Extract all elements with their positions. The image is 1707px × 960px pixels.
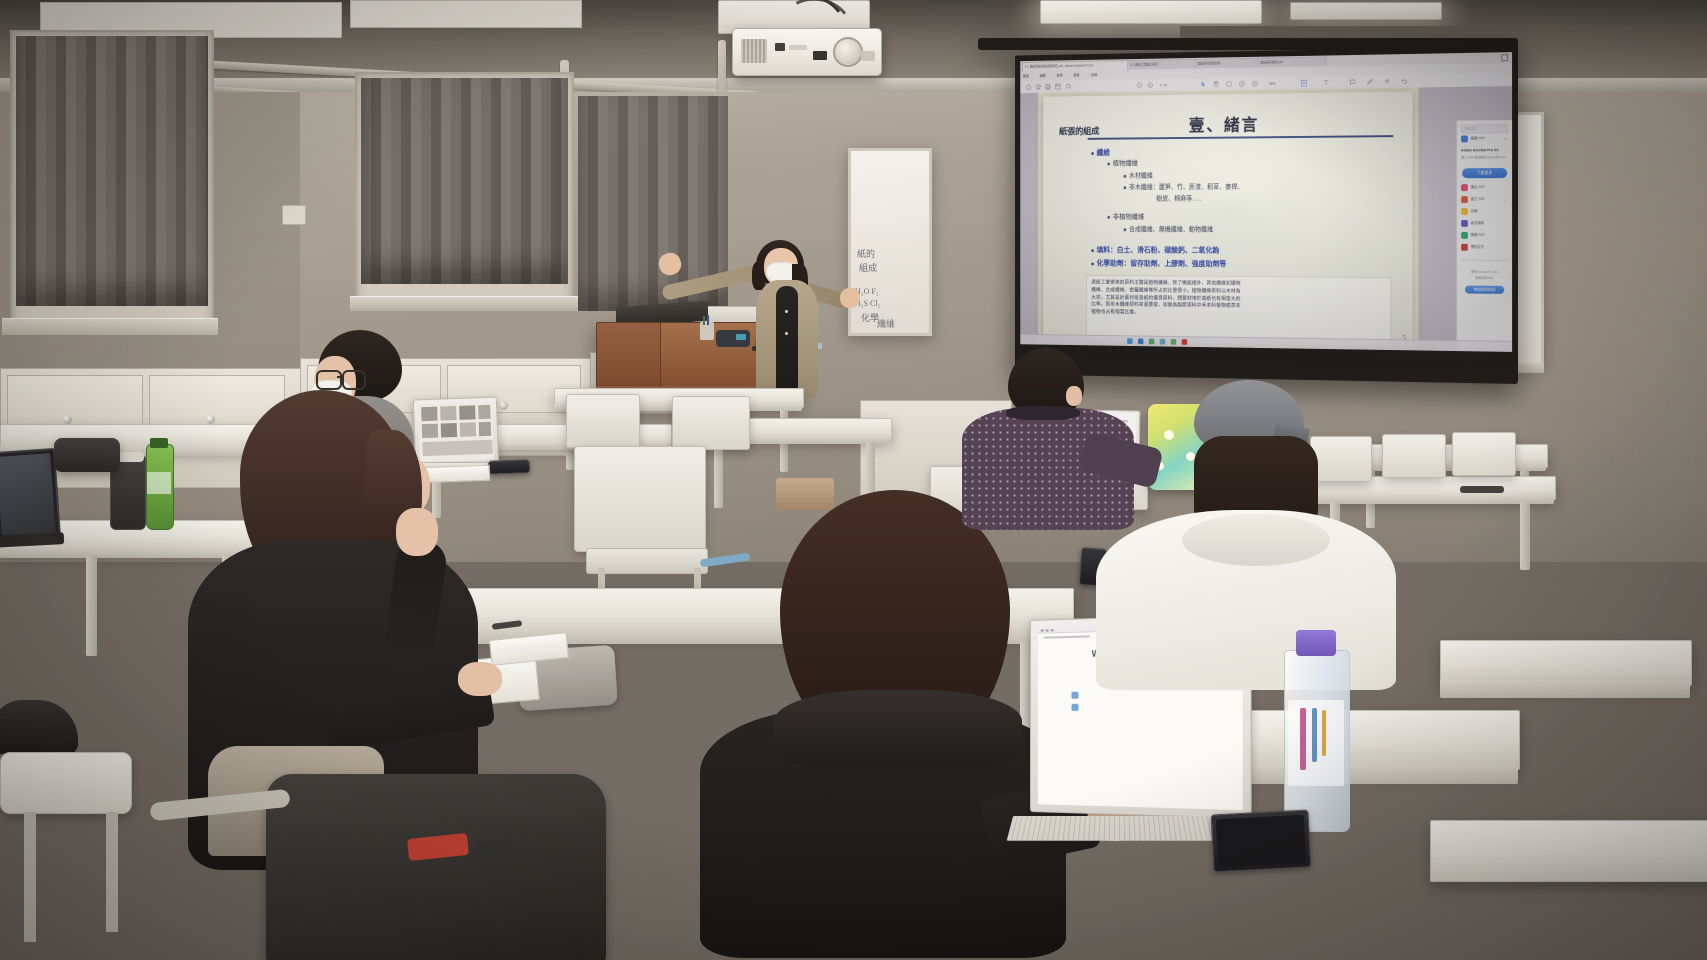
ceiling-light [1290, 2, 1442, 20]
folding-chair[interactable] [0, 752, 132, 814]
doc-meta-line [1044, 635, 1090, 638]
student-hand [396, 508, 438, 556]
zoom-out-icon[interactable] [1136, 82, 1142, 89]
tool-row-edit-pdf[interactable]: 編輯 PDF [1461, 134, 1508, 143]
acrobat-footer-line-2: 解鎖全部 PDF [1461, 276, 1508, 281]
select-tool-icon[interactable] [1200, 81, 1206, 88]
combine-files-icon [1461, 220, 1468, 227]
tool-search-input[interactable]: 搜尋工具 [1461, 124, 1508, 133]
student-hand [458, 662, 502, 696]
doc-icon [1071, 704, 1078, 711]
menu-sign[interactable]: 簽署 [1073, 72, 1079, 77]
start-trial-button[interactable]: 開始免費試用版 [1465, 286, 1504, 294]
menu-help[interactable]: 說明 [1091, 72, 1097, 77]
chair-leg [106, 812, 118, 932]
classroom-desk [1430, 820, 1707, 882]
tool-row-create-pdf[interactable]: 建立 PDF [1461, 195, 1508, 204]
slide-page: 壹、緒言 紙張的組成 纖維 植物纖維 木材纖維 非木纖維：蘆笋、竹、蔗渣、稻草、… [1043, 91, 1412, 346]
fit-page-icon[interactable] [1300, 79, 1308, 87]
desk-edge [1440, 680, 1690, 698]
pdf-page-area[interactable]: 壹、緒言 紙張的組成 纖維 植物纖維 木材纖維 非木纖維：蘆笋、竹、蔗渣、稻草、… [1020, 86, 1512, 352]
window-left-2 [355, 72, 574, 306]
desk-leg [86, 556, 97, 656]
folding-chair[interactable] [1452, 432, 1516, 476]
hoodie-hood [1182, 514, 1330, 566]
tool-label: 編輯 PDF [1471, 135, 1485, 142]
search-icon[interactable] [1065, 83, 1071, 90]
tool-label: 組合檔案 [1471, 220, 1484, 227]
tool-label: 匯出 PDF [1471, 184, 1485, 191]
edge-icon[interactable] [1138, 338, 1143, 344]
undo-icon[interactable] [1401, 78, 1408, 85]
mail-icon[interactable] [1171, 339, 1176, 345]
acrobat-footer-line-1: 使用 Acrobat Pro DC [1461, 270, 1508, 275]
curtain [16, 36, 208, 306]
tool-row-comment[interactable]: 註解 [1461, 207, 1508, 216]
slide-bullet: 非植物纖維 [1107, 212, 1144, 222]
close-icon[interactable] [1501, 54, 1508, 61]
student-ear [1066, 386, 1082, 406]
panel-divider [1461, 260, 1508, 261]
instructor-hand-right [840, 288, 860, 308]
instructor [660, 240, 860, 400]
window-sill [2, 318, 218, 335]
hand-tool-icon[interactable] [1213, 81, 1219, 88]
slide-bullet: 化學助劑：留存助劑、上膠劑、強度助劑等 [1091, 258, 1226, 269]
home-icon[interactable] [1026, 84, 1032, 91]
zoom-level[interactable]: 46% [1269, 82, 1275, 86]
bottle-cap [1296, 630, 1336, 656]
instructor-hand-left [656, 250, 684, 278]
backpack-strap [474, 839, 517, 856]
page-indicator: 1 / 16 [1160, 83, 1167, 87]
tool-search-placeholder: 搜尋工具 [1465, 126, 1477, 130]
bag[interactable] [54, 438, 120, 472]
chrome-icon[interactable] [1149, 339, 1154, 345]
light-switch[interactable] [282, 205, 306, 225]
projected-image: 1-1 造紙用紙的組成與特性.pdf - Adobe Acrobat Pro D… [1020, 52, 1512, 352]
menu-view[interactable]: 檢視 [1056, 73, 1062, 78]
share-icon[interactable] [1384, 78, 1391, 85]
backpack[interactable] [266, 774, 606, 960]
projection-screen: 1-1 造紙用紙的組成與特性.pdf - Adobe Acrobat Pro D… [1015, 46, 1518, 382]
save-icon[interactable] [1055, 83, 1061, 90]
jacket-button [785, 310, 788, 313]
smartphone[interactable] [1211, 809, 1312, 872]
edit-pdf-icon [1461, 135, 1468, 142]
tool-row-combine[interactable]: 組合檔案 [1461, 219, 1508, 228]
bottle-label [1288, 700, 1344, 786]
acrobat-icon[interactable] [1182, 339, 1187, 345]
slide-bullet: 非木纖維：蘆笋、竹、蔗渣、稻草、麥桿、 [1124, 181, 1244, 191]
chevron-up-icon [1503, 137, 1507, 141]
window-sill [350, 296, 578, 311]
sticky-note-icon[interactable] [1239, 80, 1245, 87]
laptop-keyboard[interactable] [1007, 816, 1226, 841]
desk-edge [1218, 762, 1518, 784]
glasses [342, 370, 366, 390]
classroom-photo: 紙的 組成 H₂O F₂ H₂S Cl₂ 化學 纖維 自 由 同 學 題 願 [0, 0, 1707, 960]
folding-chair[interactable] [1382, 434, 1446, 478]
acrobat-brand: Adobe Acrobat Pro DC [1461, 148, 1499, 152]
create-pdf-icon [1461, 196, 1468, 203]
pen[interactable] [1460, 486, 1504, 493]
pdf-application: 1-1 造紙用紙的組成與特性.pdf - Adobe Acrobat Pro D… [1020, 52, 1512, 352]
folder-icon[interactable] [1160, 339, 1165, 345]
tool-row-redact[interactable]: 標記定文 [1461, 243, 1508, 252]
folding-chair[interactable] [566, 394, 640, 448]
files-icon[interactable] [1127, 338, 1132, 344]
menu-edit[interactable]: 編輯 [1040, 73, 1046, 78]
pencil-icon[interactable] [1367, 78, 1374, 85]
text-tool-icon[interactable] [1323, 79, 1330, 86]
classroom-desk [1218, 710, 1520, 770]
folding-chair[interactable] [574, 446, 706, 552]
bottle-cap [150, 438, 168, 448]
ceiling-light [1040, 0, 1262, 24]
compress-pdf-icon [1461, 232, 1468, 239]
tool-label: 註解 [1471, 208, 1478, 215]
tool-label: 壓縮 PDF [1471, 232, 1485, 239]
whiteboard-note: 組成 [859, 261, 877, 274]
slide-bullet: 樹皮、棉麻等….. [1156, 193, 1201, 203]
folding-chair[interactable] [672, 396, 750, 450]
glasses [316, 370, 342, 390]
instructor-inner-top [776, 286, 798, 398]
whiteboard-note: 纖維 [877, 317, 895, 330]
chevron-down-icon [1503, 198, 1507, 202]
redact-icon [1461, 244, 1468, 251]
ceiling-panel [350, 0, 582, 28]
tool-row-compress[interactable]: 壓縮 PDF [1461, 231, 1508, 240]
slide-bullet: 纖維 [1091, 147, 1110, 158]
print-icon[interactable] [1045, 83, 1051, 90]
learn-more-button[interactable]: 了解更多 [1462, 168, 1507, 178]
hoodie-collar [774, 690, 1022, 768]
student-center-front [700, 490, 1070, 960]
rotate-icon[interactable] [1252, 80, 1259, 87]
tool-row-export-pdf[interactable]: 匯出 PDF [1461, 183, 1508, 192]
instructor-hair-side [752, 262, 764, 290]
comment-icon [1461, 208, 1468, 215]
slide-bullet: 合成纖維、無機纖維、動物纖維 [1124, 224, 1214, 234]
slide-bullet: 木材纖維 [1124, 170, 1153, 180]
comment-icon[interactable] [1349, 79, 1356, 86]
slide-bullet: 填料：白土、滑石粉、碳酸鈣、二氧化鉤 [1091, 244, 1219, 255]
bottle-label [147, 472, 171, 494]
student-right-cap [1086, 380, 1386, 680]
chair-leg [24, 812, 36, 942]
shoe [0, 700, 78, 754]
desk-leg [1520, 502, 1530, 570]
highlight-icon[interactable] [1226, 80, 1232, 87]
slide-bullet: 植物纖維 [1107, 158, 1138, 168]
acrobat-description: 轉上 PDF 檔案轉成 Word 或 Excel [1461, 155, 1508, 160]
tablet[interactable] [0, 448, 61, 542]
slide-subtitle: 紙張的組成 [1059, 124, 1099, 137]
window-left-1 [10, 30, 214, 334]
menu-file[interactable]: 檔案 [1023, 73, 1029, 78]
star-icon[interactable] [1035, 83, 1041, 90]
tool-label: 建立 PDF [1471, 196, 1485, 203]
zoom-in-icon[interactable] [1147, 82, 1153, 89]
curtain [361, 78, 568, 284]
acrobat-tools-panel: 搜尋工具 編輯 PDF Adobe Acrobat Pro DC 轉上 PDF … [1456, 120, 1512, 352]
jacket-button [785, 332, 788, 335]
whiteboard-left: 紙的 組成 H₂O F₂ H₂S Cl₂ 化學 纖維 [848, 148, 932, 336]
tool-label: 標記定文 [1471, 244, 1484, 251]
doc-icon [1071, 692, 1078, 699]
export-pdf-icon [1461, 184, 1468, 191]
sweater-collar [1006, 406, 1080, 420]
